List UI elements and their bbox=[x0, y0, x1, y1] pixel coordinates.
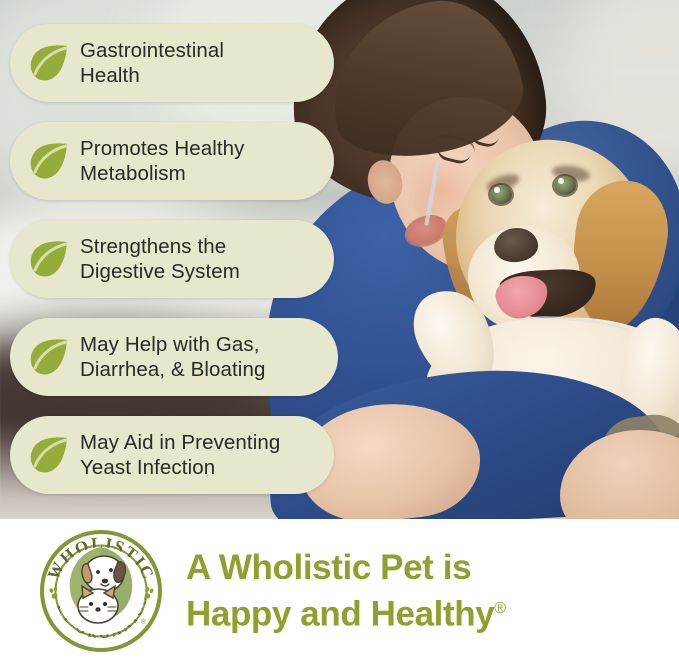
svg-text:®: ® bbox=[141, 618, 147, 626]
benefit-pill-preventing-yeast-infection: May Aid in Preventing Yeast Infection bbox=[10, 416, 334, 494]
benefit-pill-strengthens-digestive-system: Strengthens the Digestive System bbox=[10, 220, 334, 298]
dog-eye-highlight bbox=[494, 187, 500, 193]
leaf-icon bbox=[26, 335, 72, 379]
leaf-icon bbox=[26, 237, 72, 281]
tagline-line-1: A Wholistic Pet is bbox=[186, 547, 506, 588]
benefit-label: May Aid in Preventing Yeast Infection bbox=[80, 430, 290, 480]
benefit-pill-gas-diarrhea-bloating: May Help with Gas, Diarrhea, & Bloating bbox=[10, 318, 338, 396]
leaf-icon bbox=[26, 41, 72, 85]
leaf-icon bbox=[26, 139, 72, 183]
benefit-label: Promotes Healthy Metabolism bbox=[80, 136, 255, 186]
brand-footer: WHOLISTIC PET ORGANICS ® bbox=[0, 519, 679, 663]
hero-photo: Gastrointestinal Health Promotes Healthy… bbox=[0, 0, 679, 519]
benefit-label: Strengthens the Digestive System bbox=[80, 234, 250, 284]
dog-eye-highlight bbox=[558, 178, 564, 184]
benefit-label: Gastrointestinal Health bbox=[80, 38, 234, 88]
leaf-icon bbox=[26, 433, 72, 477]
product-benefits-infographic: Gastrointestinal Health Promotes Healthy… bbox=[0, 0, 679, 663]
cat-illustration bbox=[78, 586, 118, 623]
wholistic-pet-organics-logo: WHOLISTIC PET ORGANICS ® bbox=[38, 528, 164, 654]
benefit-pill-promotes-healthy-metabolism: Promotes Healthy Metabolism bbox=[10, 122, 334, 200]
registered-trademark-symbol: ® bbox=[494, 600, 505, 617]
brand-tagline: A Wholistic Pet is Happy and Healthy® bbox=[186, 547, 506, 635]
tagline-line-2: Happy and Healthy® bbox=[186, 588, 506, 635]
benefit-pill-gastrointestinal-health: Gastrointestinal Health bbox=[10, 24, 334, 102]
benefit-label: May Help with Gas, Diarrhea, & Bloating bbox=[80, 332, 275, 382]
